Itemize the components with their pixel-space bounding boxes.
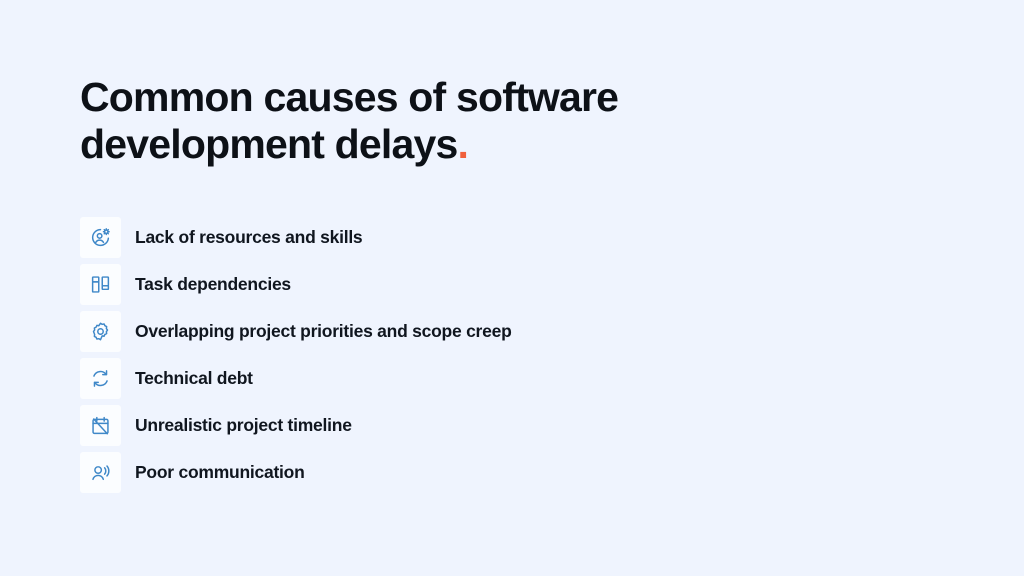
list-item-label: Unrealistic project timeline	[135, 417, 352, 435]
list-item-label: Poor communication	[135, 464, 305, 482]
list-item[interactable]: Overlapping project priorities and scope…	[80, 311, 512, 352]
kanban-board-icon	[80, 264, 121, 305]
heading-text: Common causes of software development de…	[80, 74, 720, 168]
calendar-off-icon	[80, 405, 121, 446]
list-item[interactable]: Poor communication	[80, 452, 512, 493]
list-item-label: Technical debt	[135, 370, 253, 388]
list-item[interactable]: Task dependencies	[80, 264, 512, 305]
causes-list: Lack of resources and skills Task depend…	[80, 217, 512, 493]
list-item-label: Lack of resources and skills	[135, 229, 362, 247]
gear-icon	[80, 311, 121, 352]
person-speaking-icon	[80, 452, 121, 493]
page-title: Common causes of software development de…	[80, 74, 720, 168]
heading-accent-dot: .	[458, 121, 469, 167]
list-item[interactable]: Lack of resources and skills	[80, 217, 512, 258]
refresh-sync-icon	[80, 358, 121, 399]
list-item[interactable]: Technical debt	[80, 358, 512, 399]
list-item-label: Task dependencies	[135, 276, 291, 294]
heading-line-2: development delays	[80, 121, 458, 167]
user-settings-icon	[80, 217, 121, 258]
list-item-label: Overlapping project priorities and scope…	[135, 323, 512, 341]
slide-root: Common causes of software development de…	[0, 0, 1024, 576]
list-item[interactable]: Unrealistic project timeline	[80, 405, 512, 446]
heading-line-1: Common causes of software	[80, 74, 618, 120]
